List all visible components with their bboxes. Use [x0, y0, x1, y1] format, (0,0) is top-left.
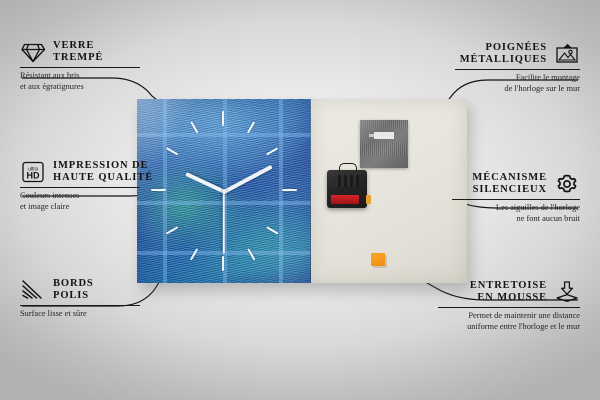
feature-sub-line2: et aux égratignures: [20, 82, 140, 92]
feature-sub-line2: de l'horloge sur le mur: [455, 84, 580, 94]
metal-hanger-plate: [360, 120, 408, 168]
feature-sub-line1: Résistant aux bris: [20, 71, 140, 81]
mechanism-detail: [335, 175, 359, 187]
hanger-slot: [374, 132, 394, 139]
clock-face: [137, 99, 311, 283]
feature-divider: [455, 69, 580, 70]
feature-poignees-metalliques: POIGNÉES MÉTALLIQUES Facilite le montage…: [455, 42, 580, 94]
glass-glare: [137, 99, 311, 283]
feature-title-line1: MÉCANISME: [472, 172, 547, 184]
feature-sub-line1: Permet de maintenir une distance: [438, 311, 580, 321]
feature-bords-polis: BORDS POLIS Surface lisse et sûre: [20, 278, 140, 320]
feature-sub-line1: Les aiguilles de l'horloge: [452, 203, 580, 213]
feature-sub-line1: Couleurs intenses: [20, 191, 140, 201]
battery: [331, 195, 359, 204]
feature-mecanisme-silencieux: MÉCANISME SILENCIEUX Les aiguilles de l'…: [452, 172, 580, 224]
feature-verre-trempe: VERRE TREMPÉ Résistant aux bris et aux é…: [20, 40, 140, 92]
polished-edge-icon: [20, 278, 46, 302]
product-image: [137, 99, 467, 283]
feature-sub-line2: uniforme entre l'horloge et le mur: [438, 322, 580, 332]
feature-title-line2: MÉTALLIQUES: [460, 54, 547, 66]
feature-sub-line1: Surface lisse et sûre: [20, 309, 140, 319]
picture-frame-hanger-icon: [554, 42, 580, 66]
feature-title-line2: EN MOUSSE: [470, 292, 547, 304]
feature-sub-line2: ne font aucun bruit: [452, 214, 580, 224]
feature-title-line2: SILENCIEUX: [472, 184, 547, 196]
feature-title-line1: IMPRESSION DE: [53, 160, 153, 172]
svg-text:HD: HD: [27, 171, 40, 181]
clock-mechanism: [327, 170, 367, 208]
feature-sub-line1: Facilite le montage: [455, 73, 580, 83]
feature-title-line1: BORDS: [53, 278, 94, 290]
feature-divider: [20, 187, 140, 188]
infographic-canvas: VERRE TREMPÉ Résistant aux bris et aux é…: [0, 0, 600, 400]
foam-spacer-arrow-icon: [554, 280, 580, 304]
gear-icon: [554, 172, 580, 196]
feature-title-line1: POIGNÉES: [460, 42, 547, 54]
clock-back: [311, 99, 467, 283]
feature-sub-line2: et image claire: [20, 202, 140, 212]
feature-entretoise-en-mousse: ENTRETOISE EN MOUSSE Permet de maintenir…: [438, 280, 580, 332]
diamond-icon: [20, 40, 46, 64]
mechanism-hook: [339, 163, 357, 172]
feature-divider: [20, 67, 140, 68]
feature-impression-haute-qualite: ultra HD IMPRESSION DE HAUTE QUALITÉ Cou…: [20, 160, 140, 212]
feature-divider: [438, 307, 580, 308]
feature-title-line2: POLIS: [53, 290, 94, 302]
feature-divider: [452, 199, 580, 200]
ultra-hd-badge-icon: ultra HD: [20, 160, 46, 184]
feature-title-line2: HAUTE QUALITÉ: [53, 172, 153, 184]
feature-divider: [20, 305, 140, 306]
battery-terminal: [366, 195, 371, 204]
feature-title-line1: VERRE: [53, 40, 103, 52]
feature-title-line2: TREMPÉ: [53, 52, 103, 64]
foam-spacer: [371, 253, 385, 266]
feature-title-line1: ENTRETOISE: [470, 280, 547, 292]
